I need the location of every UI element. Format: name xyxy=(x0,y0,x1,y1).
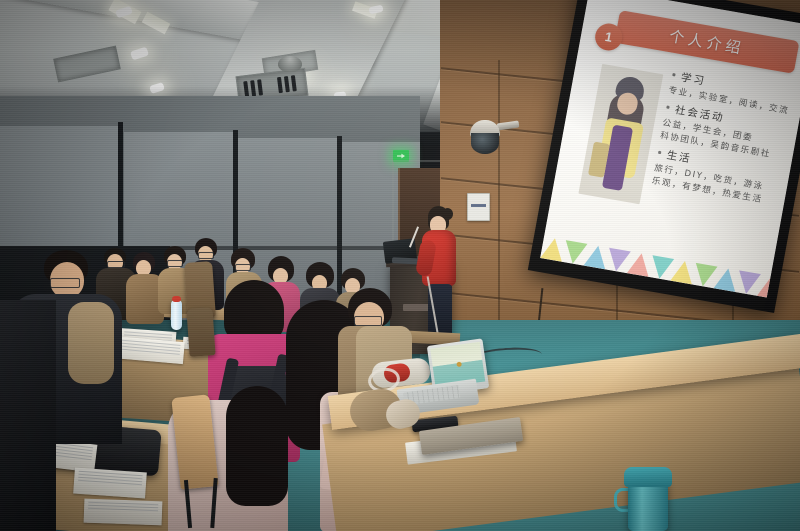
glasses-icon xyxy=(354,316,382,326)
slide-bullet-list: 学习 专业，实验室，阅读，交流 社会活动 公益，学生会，团委 科协团队，吴韵音乐… xyxy=(651,68,795,208)
bottle-cap xyxy=(172,296,181,302)
water-bottle xyxy=(171,300,182,330)
slide-title: 个人介绍 xyxy=(614,10,799,74)
teal-water-bottle[interactable] xyxy=(628,480,668,531)
person-torso xyxy=(0,300,56,531)
teal-bottle-cap xyxy=(624,467,672,487)
glasses-icon xyxy=(235,264,251,271)
dome-camera-icon xyxy=(278,56,302,72)
papers xyxy=(84,499,163,526)
ptz-dome-camera-icon xyxy=(471,133,499,154)
lecture-hall-photo: 个人介绍 1 学习 专业，实验室，阅读，交流 社会活动 公益，学生会，团 xyxy=(0,0,800,531)
wall-control-box[interactable] xyxy=(467,193,490,221)
papers xyxy=(73,468,147,499)
person-hair xyxy=(226,386,288,506)
glasses-icon xyxy=(198,252,214,259)
slide-title-banner: 个人介绍 xyxy=(614,10,799,74)
hvac-vent xyxy=(53,46,121,83)
person-hair xyxy=(224,280,284,342)
presentation-slide: 个人介绍 1 学习 专业，实验室，阅读，交流 社会活动 公益，学生会，团 xyxy=(540,0,800,298)
glasses-icon xyxy=(50,278,80,288)
presenter xyxy=(416,206,462,346)
glasses-icon xyxy=(167,260,183,267)
paper-lines xyxy=(88,502,159,522)
laptop-screen-object xyxy=(456,361,462,367)
downlight xyxy=(130,47,149,61)
projection-screen: 个人介绍 1 学习 专业，实验室，阅读，交流 社会活动 公益，学生会，团 xyxy=(528,0,800,313)
person-scarf xyxy=(68,302,114,384)
paper-lines xyxy=(77,471,142,495)
audience-person-edge xyxy=(0,300,60,531)
screen-surface: 个人介绍 1 学习 专业，实验室，阅读，交流 社会活动 公益，学生会，团 xyxy=(540,0,800,298)
chair[interactable] xyxy=(186,307,215,357)
